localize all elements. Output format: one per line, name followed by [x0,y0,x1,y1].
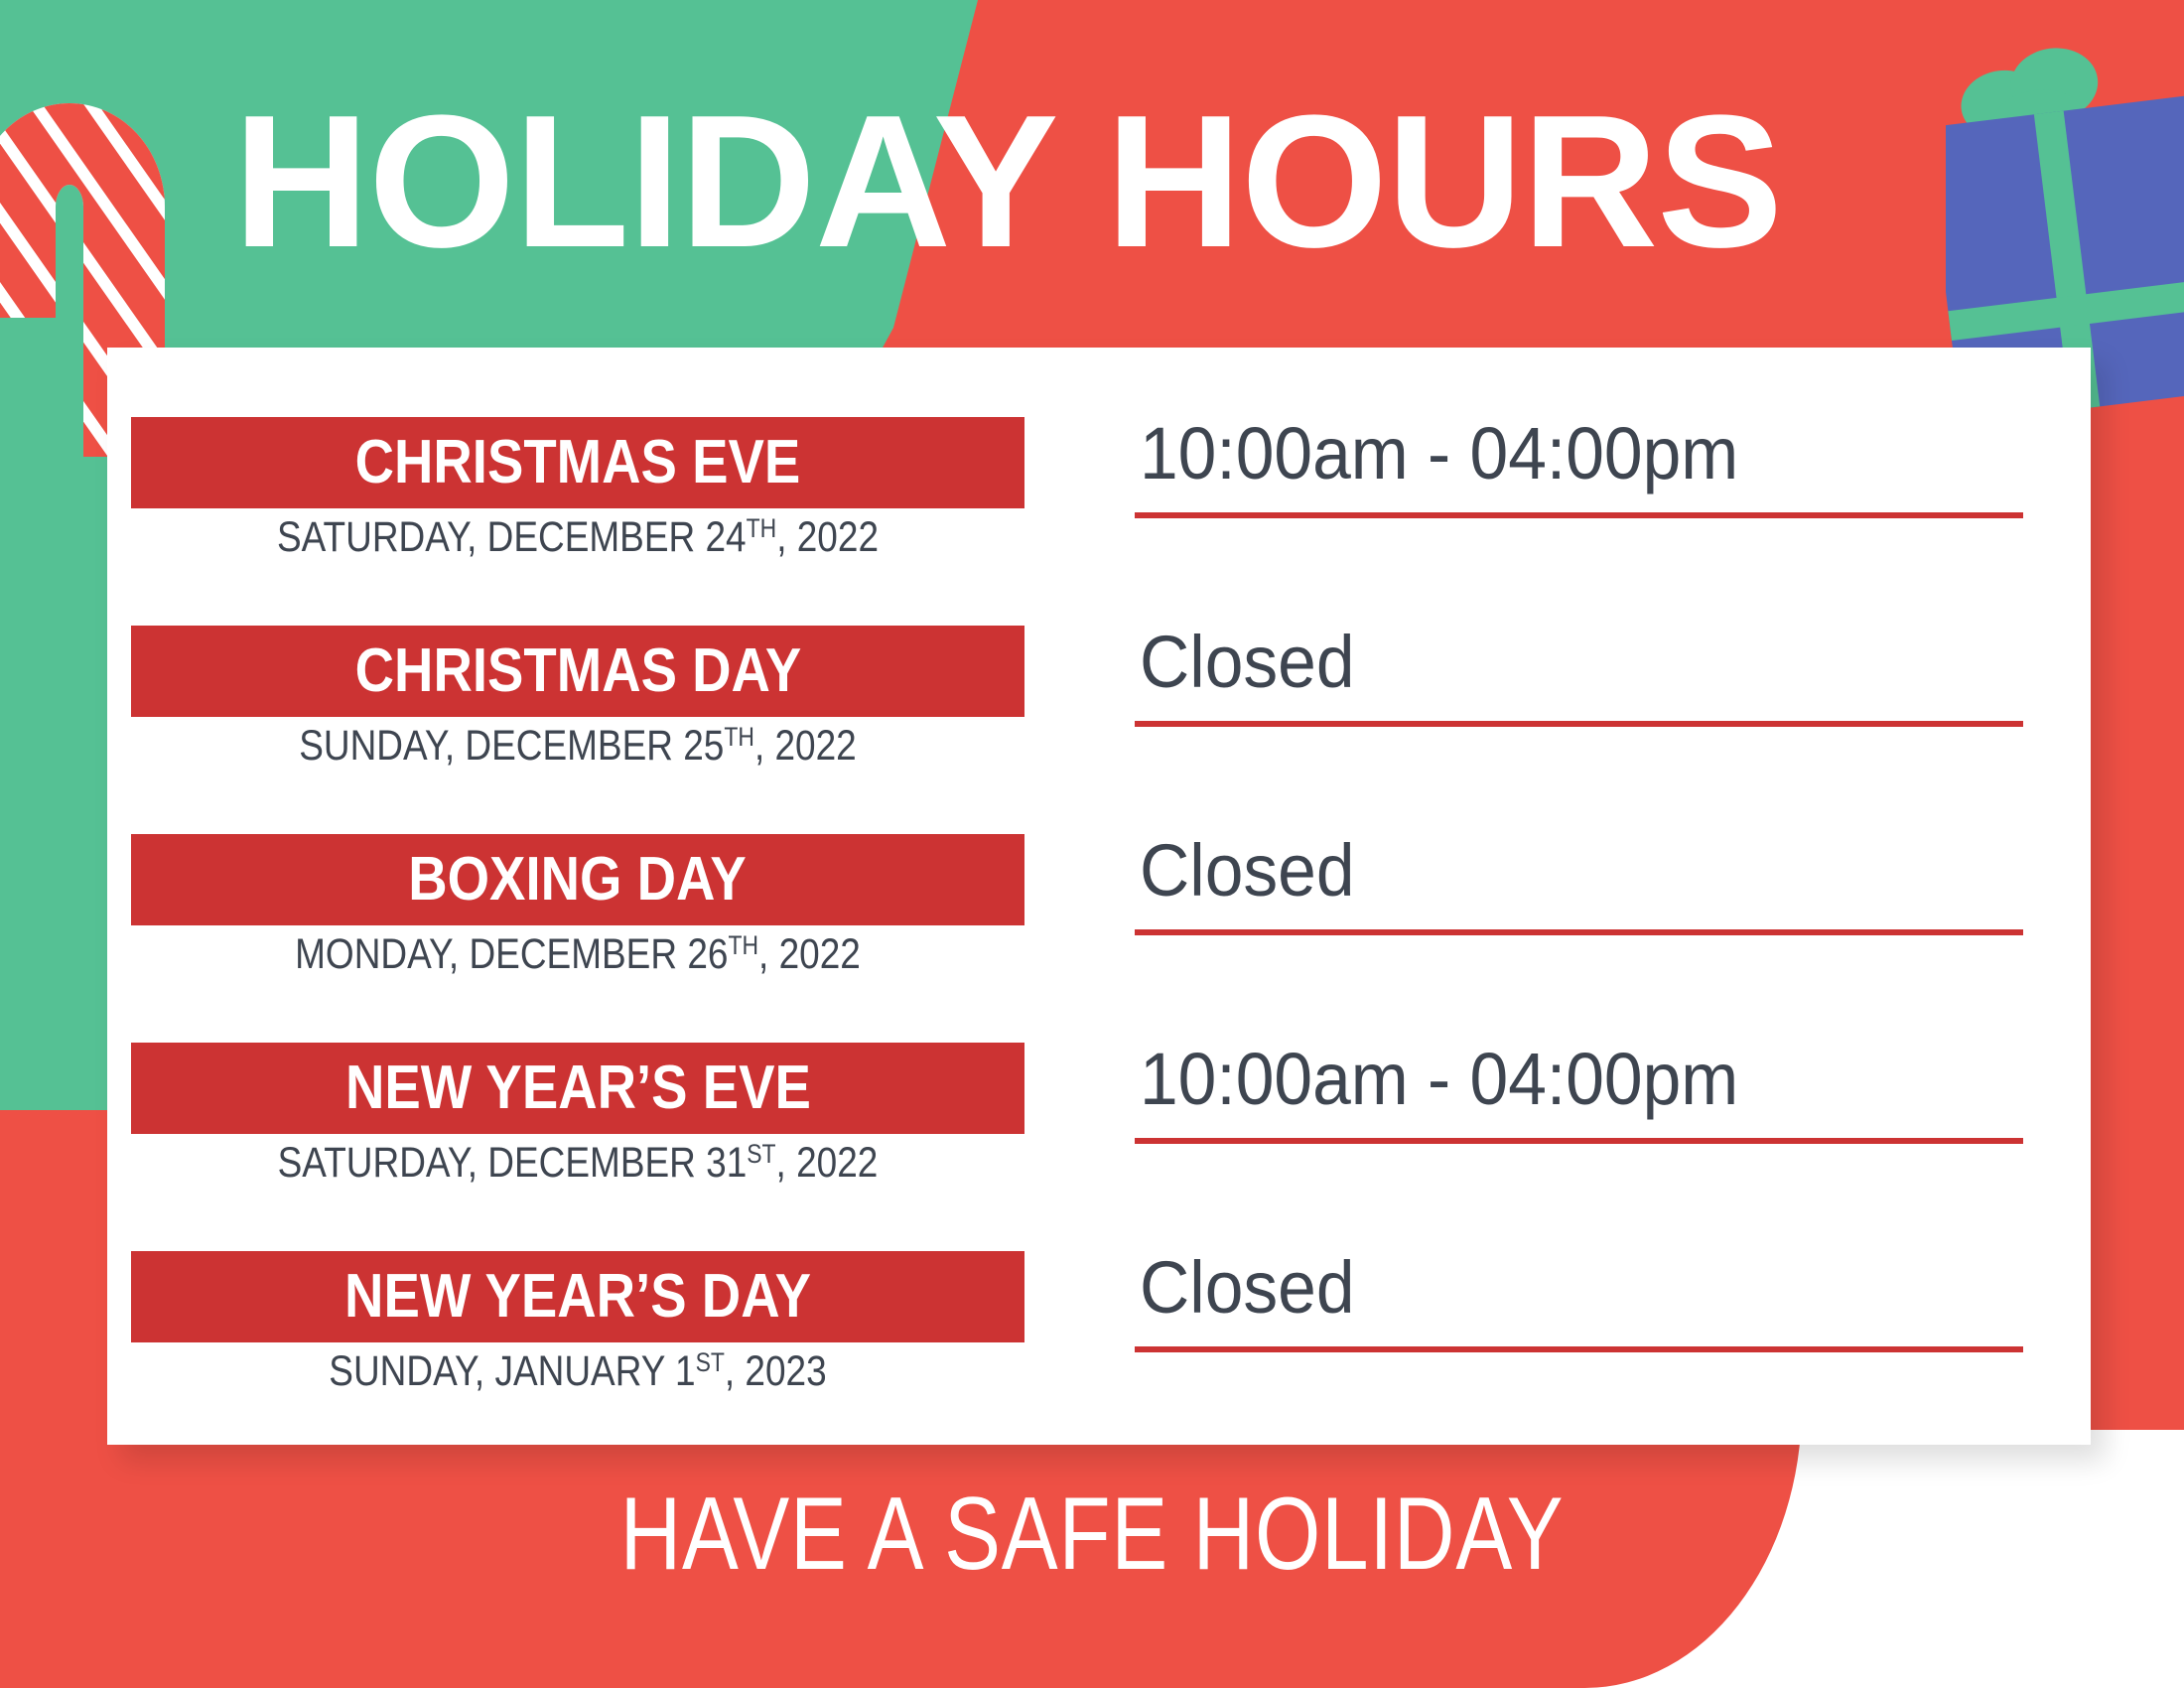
holiday-name-banner: NEW YEAR’S EVE [131,1043,1024,1134]
holiday-hours: Closed [1140,620,1971,705]
hours-underline [1135,929,2023,935]
holiday-date: SUNDAY, DECEMBER 25TH, 2022 [194,721,962,771]
holiday-name-label: BOXING DAY [409,849,748,911]
date-ordinal: TH [728,930,758,960]
date-suffix: , 2022 [754,722,857,770]
holiday-date: MONDAY, DECEMBER 26TH, 2022 [194,929,962,979]
date-ordinal: ST [747,1139,775,1169]
date-prefix: SUNDAY, DECEMBER 25 [299,722,724,770]
holiday-hours: Closed [1140,1245,1971,1331]
hours-underline [1135,1138,2023,1144]
date-suffix: , 2023 [725,1347,827,1395]
date-suffix: , 2022 [758,930,861,978]
hours-underline [1135,512,2023,518]
hours-underline [1135,721,2023,727]
date-prefix: MONDAY, DECEMBER 26 [295,930,728,978]
date-ordinal: TH [724,722,754,752]
holiday-hours-poster: HOLIDAY HOURS CHRISTMAS EVE SATURDAY, DE… [0,0,2184,1688]
holiday-hours: Closed [1140,828,1971,914]
holiday-hours: 10:00am - 04:00pm [1140,411,1971,496]
holiday-name-banner: NEW YEAR’S DAY [131,1251,1024,1342]
date-prefix: SATURDAY, DECEMBER 24 [277,513,747,561]
date-prefix: SATURDAY, DECEMBER 31 [278,1139,748,1187]
tagline: HAVE A SAFE HOLIDAY [197,1479,1987,1589]
holiday-name-label: NEW YEAR’S DAY [344,1266,811,1328]
date-suffix: , 2022 [776,513,879,561]
holiday-name-label: CHRISTMAS EVE [355,432,801,493]
date-ordinal: ST [696,1347,725,1377]
schedule-card: CHRISTMAS EVE SATURDAY, DECEMBER 24TH, 2… [107,348,2091,1445]
date-prefix: SUNDAY, JANUARY 1 [329,1347,695,1395]
holiday-name-label: CHRISTMAS DAY [354,640,801,702]
date-suffix: , 2022 [776,1139,879,1187]
holiday-date: SUNDAY, JANUARY 1ST, 2023 [194,1346,962,1396]
holiday-name-label: NEW YEAR’S EVE [345,1057,811,1119]
holiday-name-banner: CHRISTMAS DAY [131,626,1024,717]
holiday-name-banner: BOXING DAY [131,834,1024,925]
holiday-date: SATURDAY, DECEMBER 24TH, 2022 [194,512,962,562]
holiday-name-banner: CHRISTMAS EVE [131,417,1024,508]
hours-underline [1135,1346,2023,1352]
date-ordinal: TH [747,513,777,543]
page-title: HOLIDAY HOURS [0,87,2015,276]
holiday-hours: 10:00am - 04:00pm [1140,1037,1971,1122]
holiday-date: SATURDAY, DECEMBER 31ST, 2022 [194,1138,962,1188]
